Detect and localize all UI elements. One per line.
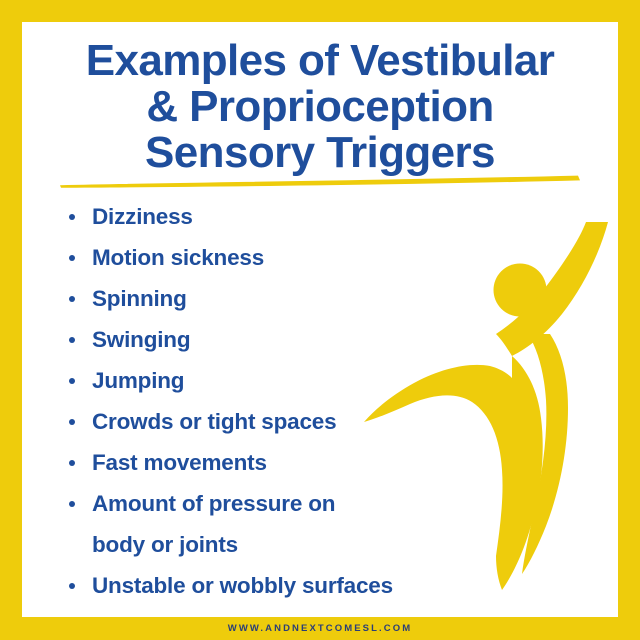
list-item-label: Dizziness [92,205,193,229]
list-item: Spinning [52,278,522,319]
list-item-label: Crowds or tight spaces [92,410,336,434]
list-item: Amount of pressure on [52,483,522,524]
bullet-dot-icon [69,419,75,425]
trigger-list: Dizziness Motion sickness Spinning Swing… [52,196,522,606]
list-item: Unstable or wobbly surfaces [52,565,522,606]
white-content-panel: Examples of Vestibular & Proprioception … [22,22,618,617]
list-item: Fast movements [52,442,522,483]
list-item-label: body or joints [92,533,238,557]
bullet-dot-icon [69,337,75,343]
list-item: Motion sickness [52,237,522,278]
bullet-dot-icon [69,460,75,466]
list-item-continuation: body or joints [52,524,522,565]
website-url: WWW.ANDNEXTCOMESL.COM [228,623,412,634]
poster-canvas: Examples of Vestibular & Proprioception … [0,0,640,640]
divider-rule [58,174,582,188]
list-item: Jumping [52,360,522,401]
footer-band: WWW.ANDNEXTCOMESL.COM [0,617,640,640]
list-item-label: Jumping [92,369,184,393]
title-line-1: Examples of Vestibular [22,38,618,84]
list-item-label: Fast movements [92,451,267,475]
title-line-2: & Proprioception [22,84,618,130]
bullet-dot-icon [69,501,75,507]
bullet-dot-icon [69,255,75,261]
list-item: Swinging [52,319,522,360]
bullet-dot-icon [69,378,75,384]
bullet-dot-icon [69,214,75,220]
list-item-label: Unstable or wobbly surfaces [92,574,393,598]
page-title: Examples of Vestibular & Proprioception … [22,38,618,176]
list-item: Crowds or tight spaces [52,401,522,442]
figure-back-leg [522,334,568,574]
list-item-label: Spinning [92,287,187,311]
title-line-3: Sensory Triggers [22,130,618,176]
bullet-dot-icon [69,583,75,589]
list-item: Dizziness [52,196,522,237]
bullet-dot-icon [69,296,75,302]
list-item-label: Swinging [92,328,190,352]
list-item-label: Amount of pressure on [92,492,335,516]
list-item-label: Motion sickness [92,246,264,270]
